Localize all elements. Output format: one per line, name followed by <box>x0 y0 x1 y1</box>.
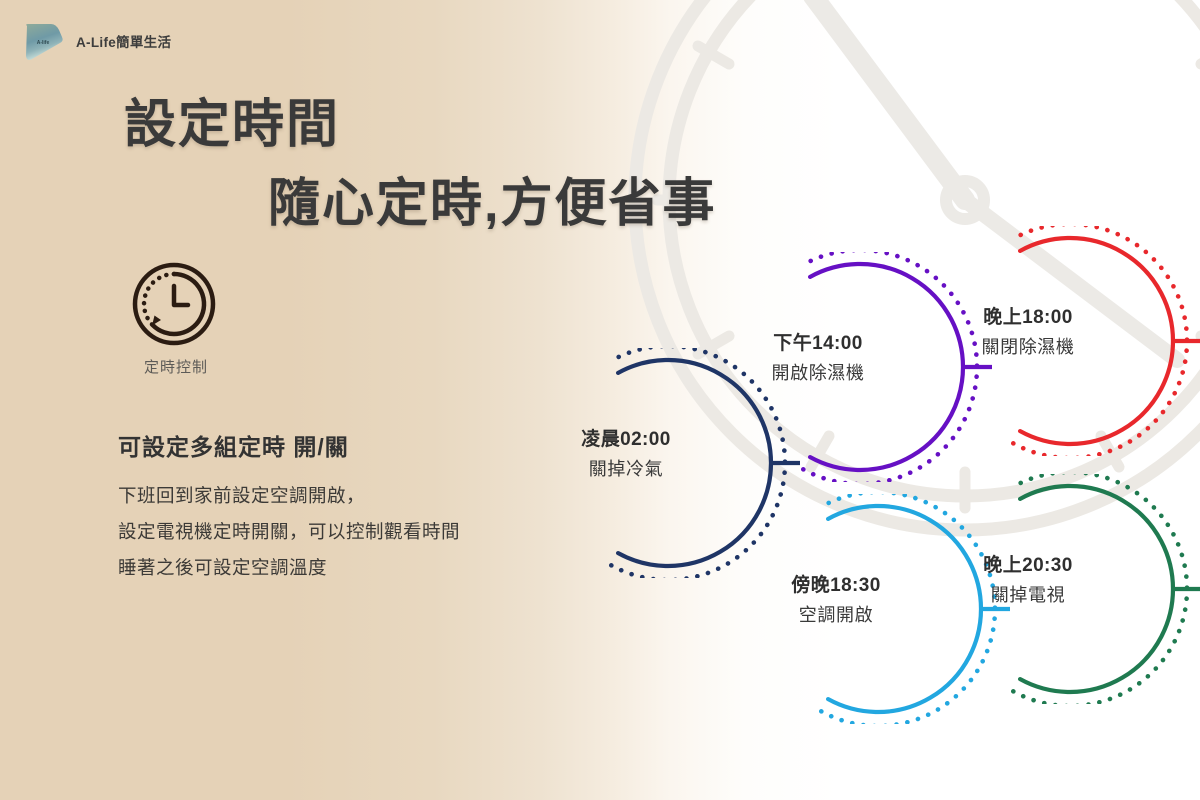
brand-logo[interactable]: A-life A-Life簡單生活 <box>18 18 278 64</box>
timer-clock-icon <box>128 258 220 350</box>
timeline-node-action: 關閉除濕機 <box>962 332 1094 362</box>
a-life-play-triangle-logo-icon: A-life <box>18 19 66 63</box>
brand-name: A-Life簡單生活 <box>76 31 171 51</box>
timer-control-caption: 定時控制 <box>128 356 224 377</box>
description-line: 設定電視機定時開關，可以控制觀看時間 <box>118 514 588 550</box>
timeline-node-label: 凌晨02:00 關掉冷氣 <box>560 426 692 484</box>
timeline-node-action: 關掉冷氣 <box>560 454 692 484</box>
timeline-node-label: 下午14:00 開啟除濕機 <box>752 330 884 388</box>
description-line: 睡著之後可設定空調溫度 <box>118 550 588 586</box>
svg-text:A-life: A-life <box>37 40 50 46</box>
description-line: 下班回到家前設定空調開啟， <box>118 478 588 514</box>
timeline-node-4[interactable]: 晚上20:30 關掉電視 <box>962 474 1200 704</box>
timeline-node-label: 傍晚18:30 空調開啟 <box>770 572 902 630</box>
page-title-line1: 設定時間 <box>124 82 340 157</box>
timeline-node-action: 開啟除濕機 <box>752 358 884 388</box>
description-heading: 可設定多組定時 開/關 <box>118 428 588 462</box>
page-title-line2: 隨心定時,方便省事 <box>268 161 716 236</box>
timeline-node-1[interactable]: 下午14:00 開啟除濕機 <box>752 252 992 482</box>
timeline-node-time: 下午14:00 <box>752 330 884 358</box>
description-block: 可設定多組定時 開/關 下班回到家前設定空調開啟， 設定電視機定時開關，可以控制… <box>118 428 588 586</box>
timeline-node-action: 關掉電視 <box>962 580 1094 610</box>
timeline-node-action: 空調開啟 <box>770 600 902 630</box>
timeline-node-label: 晚上18:00 關閉除濕機 <box>962 304 1094 362</box>
timeline-node-time: 傍晚18:30 <box>770 572 902 600</box>
timeline-node-time: 凌晨02:00 <box>560 426 692 454</box>
slide-canvas: A-life A-Life簡單生活 設定時間 隨心定時,方便省事 定時控制 可設… <box>0 0 1200 800</box>
timeline-node-time: 晚上20:30 <box>962 552 1094 580</box>
timeline-node-label: 晚上20:30 關掉電視 <box>962 552 1094 610</box>
timeline-node-time: 晚上18:00 <box>962 304 1094 332</box>
timeline-node-2[interactable]: 晚上18:00 關閉除濕機 <box>962 226 1200 456</box>
